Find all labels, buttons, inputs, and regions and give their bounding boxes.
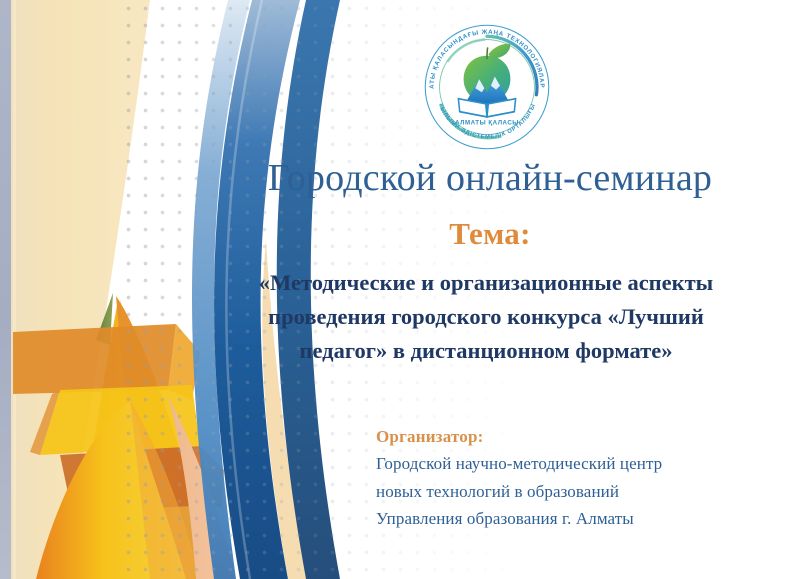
seminar-announcement-slide: АЛМАТЫ ҚАЛАСЫНДАҒЫ ЖАҢА ТЕХНОЛОГИЯЛАРДЫҢ… — [0, 0, 800, 579]
topic-label: Тема: — [210, 216, 770, 252]
topic-line-3: педагог» в дистанционном формате» — [196, 334, 776, 368]
topic-line-2: проведения городского конкурса «Лучший — [196, 300, 776, 334]
organizer-block: Организатор: Городской научно-методическ… — [376, 424, 776, 533]
topic-text: «Методические и организационные аспекты … — [196, 266, 776, 369]
organizer-line-1: Городской научно-методический центр — [376, 450, 776, 478]
logo-banner-text: АЛМАТЫ ҚАЛАСЫ — [455, 120, 519, 127]
almaty-education-center-logo: АЛМАТЫ ҚАЛАСЫНДАҒЫ ЖАҢА ТЕХНОЛОГИЯЛАРДЫҢ… — [422, 22, 552, 152]
organizer-line-2: новых технологий в образований — [376, 478, 776, 506]
organizer-line-3: Управления образования г. Алматы — [376, 505, 776, 533]
page-title: Городской онлайн-семинар — [210, 158, 770, 199]
organizer-label: Организатор: — [376, 424, 776, 450]
topic-line-1: «Методические и организационные аспекты — [196, 266, 776, 300]
